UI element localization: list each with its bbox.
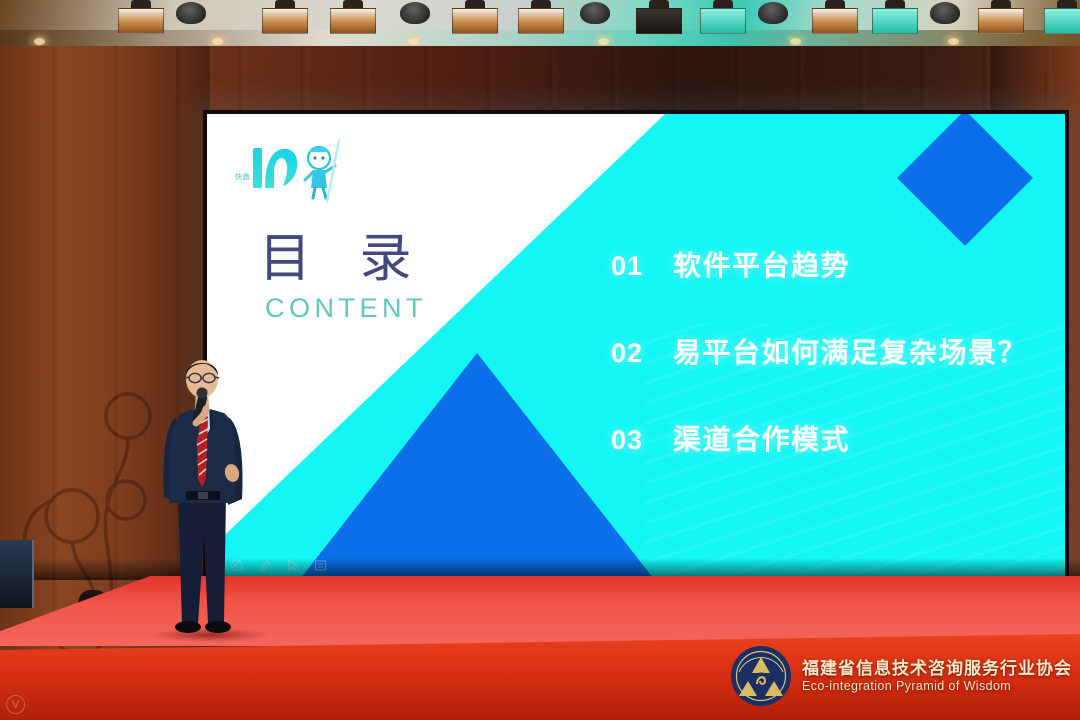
stage-spotlight-icon (758, 2, 788, 24)
stage-spotlight-icon (580, 2, 610, 24)
heading-chinese: 目 录 (259, 232, 428, 287)
stage-light-fixture-icon (812, 0, 858, 34)
presenter-with-microphone (152, 355, 254, 645)
kp-mascot-flag-logo (247, 136, 351, 218)
stage-light-fixture-icon (262, 0, 308, 34)
contents-item: 02易平台如何满足复杂场景？ (611, 331, 1051, 371)
slide-heading: 目 录 CONTENT (259, 232, 428, 324)
slide-contents-list: 01软件平台趋势02易平台如何满足复杂场景？03渠道合作模式 (611, 244, 1051, 505)
stage-light-fixture-icon (452, 0, 498, 34)
association-name-chinese: 福建省信息技术咨询服务行业协会 (802, 659, 1072, 679)
association-watermark: 福建省信息技术咨询服务行业协会 Eco-integration Pyramid … (729, 644, 1072, 708)
association-seal-icon (729, 644, 793, 708)
stage-light-fixture-icon (330, 0, 376, 34)
contents-item-number: 03 (611, 425, 673, 456)
presentation-slide[interactable]: 快跑 目 录 CONTENT 01软件平台趋势02易平台如何满足复杂场景？03渠… (207, 114, 1065, 583)
contents-item: 01软件平台趋势 (611, 244, 1051, 284)
contents-item-label: 渠道合作模式 (673, 418, 850, 458)
stage-spotlight-icon (930, 2, 960, 24)
stage-spotlight-icon (176, 2, 206, 24)
contents-item-label: 软件平台趋势 (673, 244, 850, 284)
stage-spotlight-icon (400, 2, 430, 24)
corner-v-watermark: V (6, 695, 25, 714)
stage-lighting-truss (0, 0, 1080, 46)
contents-item-number: 01 (611, 251, 673, 282)
stage-light-fixture-icon (118, 0, 164, 34)
logo-subtitle: 快跑 (235, 172, 251, 182)
stage-light-fixture-icon (636, 0, 682, 34)
stage-light-fixture-icon (1044, 0, 1080, 34)
stage-light-fixture-icon (978, 0, 1024, 34)
av-equipment-rack (0, 540, 34, 608)
heading-english: CONTENT (265, 293, 428, 324)
association-name-english: Eco-integration Pyramid of Wisdom (802, 679, 1072, 694)
contents-item: 03渠道合作模式 (611, 418, 1051, 458)
contents-item-label: 易平台如何满足复杂场景？ (673, 331, 1027, 371)
stage-light-fixture-icon (518, 0, 564, 34)
contents-item-number: 02 (611, 338, 673, 369)
stage-light-fixture-icon (872, 0, 918, 34)
stage-light-fixture-icon (700, 0, 746, 34)
